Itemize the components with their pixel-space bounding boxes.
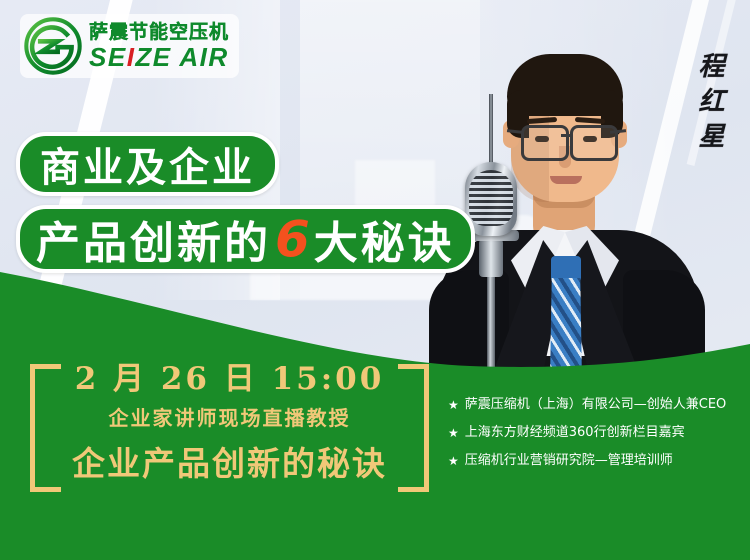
headline-number-six: 6	[271, 210, 314, 268]
star-icon: ★	[448, 396, 459, 415]
credential-text: 上海东方财经频道360行创新栏目嘉宾	[465, 424, 685, 443]
brand-name-en: SEIZE AIR	[89, 44, 229, 70]
headline-line-1-text: 商业及企业	[40, 135, 255, 193]
promo-poster: 萨震节能空压机 SEIZE AIR 程红星 商业及企业 产品创新的6大秘诀 2 …	[0, 0, 750, 560]
brand-name-cn: 萨震节能空压机	[89, 23, 229, 42]
credential-text: 萨震压缩机（上海）有限公司—创始人兼CEO	[465, 396, 727, 415]
event-subtitle: 企业家讲师现场直播教授	[64, 402, 395, 431]
list-item: ★ 上海东方财经频道360行创新栏目嘉宾	[448, 424, 740, 443]
headline-line-1: 商业及企业	[16, 132, 279, 196]
credential-text: 压缩机行业营销研究院—管理培训师	[465, 452, 673, 471]
headline-line-2-prefix: 产品创新的	[36, 207, 271, 271]
headline-line-2: 产品创新的6大秘诀	[16, 205, 475, 273]
brand-en-suffix: ZE AIR	[135, 42, 228, 72]
list-item: ★ 萨震压缩机（上海）有限公司—创始人兼CEO	[448, 396, 740, 415]
headline-line-2-suffix: 大秘诀	[314, 207, 455, 271]
event-details-block: 2 月 26 日 15:00 企业家讲师现场直播教授 企业产品创新的秘诀	[30, 358, 435, 492]
event-main-topic: 企业产品创新的秘诀	[64, 437, 395, 485]
speaker-name-calligraphy: 程红星	[691, 52, 728, 157]
list-item: ★ 压缩机行业营销研究院—管理培训师	[448, 452, 740, 471]
speaker-credentials-list: ★ 萨震压缩机（上海）有限公司—创始人兼CEO ★ 上海东方财经频道360行创新…	[448, 396, 740, 481]
bracket-right-decoration	[398, 364, 429, 492]
star-icon: ★	[448, 452, 459, 471]
sz-monogram-logo-icon	[24, 17, 82, 75]
star-icon: ★	[448, 424, 459, 443]
eyeglasses-icon	[521, 125, 569, 161]
brand-logo: 萨震节能空压机 SEIZE AIR	[20, 14, 239, 78]
event-datetime: 2 月 26 日 15:00	[64, 362, 395, 398]
brand-en-prefix: SE	[89, 42, 127, 72]
bracket-left-decoration	[30, 364, 61, 492]
